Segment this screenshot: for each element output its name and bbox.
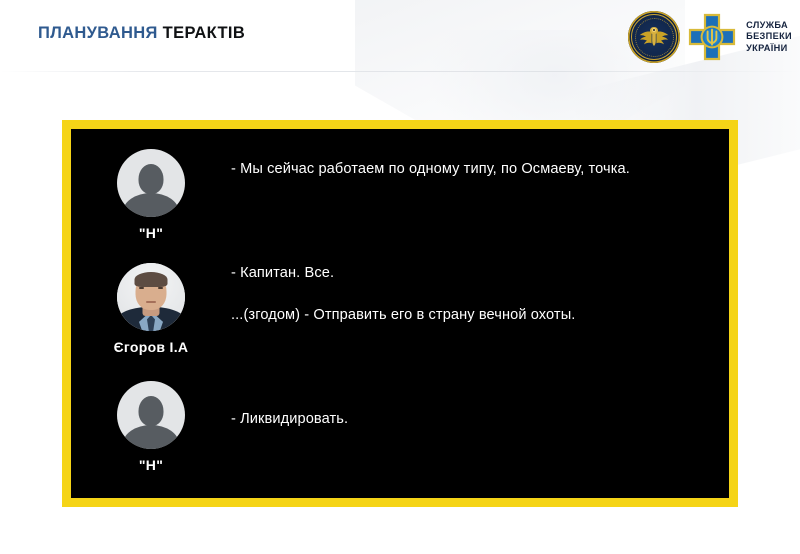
page-title-secondary: ТЕРАКТІВ xyxy=(163,24,245,42)
header-divider xyxy=(0,71,800,72)
dialogue-lines: - Капитан. Все. ...(згодом) - Отправить … xyxy=(231,257,729,326)
dialogue-line: - Мы сейчас работаем по одному типу, по … xyxy=(231,159,713,180)
dialogue-line: - Капитан. Все. xyxy=(231,263,713,284)
logo-group: СЛУЖБА БЕЗПЕКИ УКРАЇНИ xyxy=(628,6,792,68)
page-title: ПЛАНУВАННЯ ТЕРАКТІВ xyxy=(38,24,245,43)
sbu-logo-text-line-2: БЕЗПЕКИ xyxy=(746,31,792,43)
slide-root: ПЛАНУВАННЯ ТЕРАКТІВ xyxy=(0,0,800,554)
dialogue-row: Єгоров І.А - Капитан. Все. ...(згодом) -… xyxy=(71,257,729,355)
slide-header: ПЛАНУВАННЯ ТЕРАКТІВ xyxy=(0,0,800,72)
avatar-photo-mouth xyxy=(146,301,156,303)
sbu-cross-emblem-icon xyxy=(688,13,736,61)
speaker-block: "Н" xyxy=(71,149,231,241)
dialogue-line: - Ликвидировать. xyxy=(231,409,713,430)
transcript-panel: "Н" - Мы сейчас работаем по одному типу,… xyxy=(62,120,738,507)
speaker-block: Єгоров І.А xyxy=(71,257,231,355)
dialogue-lines: - Мы сейчас работаем по одному типу, по … xyxy=(231,149,729,180)
avatar-placeholder-icon xyxy=(117,381,185,449)
dialogue-row: "Н" - Мы сейчас работаем по одному типу,… xyxy=(71,149,729,241)
avatar-photo-hair xyxy=(135,272,168,287)
sbu-logo-text-line-1: СЛУЖБА xyxy=(746,20,792,32)
speaker-name: "Н" xyxy=(139,225,163,241)
dialogue-lines: - Ликвидировать. xyxy=(231,381,729,430)
transcript-panel-inner: "Н" - Мы сейчас работаем по одному типу,… xyxy=(71,129,729,498)
sbu-logo-text: СЛУЖБА БЕЗПЕКИ УКРАЇНИ xyxy=(746,20,792,55)
speaker-name: "Н" xyxy=(139,457,163,473)
dialogue-row: "Н" - Ликвидировать. xyxy=(71,381,729,473)
eagle-glyph-icon xyxy=(637,23,671,51)
speaker-block: "Н" xyxy=(71,381,231,473)
dialogue-line: ...(згодом) - Отправить его в страну веч… xyxy=(231,305,713,326)
avatar-photo xyxy=(117,263,185,331)
page-title-primary: ПЛАНУВАННЯ xyxy=(38,24,158,42)
sbu-logo-text-line-3: УКРАЇНИ xyxy=(746,43,792,55)
speaker-name: Єгоров І.А xyxy=(114,339,189,355)
avatar-photo-eye-right xyxy=(158,287,163,289)
avatar-placeholder-icon xyxy=(117,149,185,217)
avatar-photo-eye-left xyxy=(139,287,144,289)
eagle-emblem-icon xyxy=(628,11,680,63)
